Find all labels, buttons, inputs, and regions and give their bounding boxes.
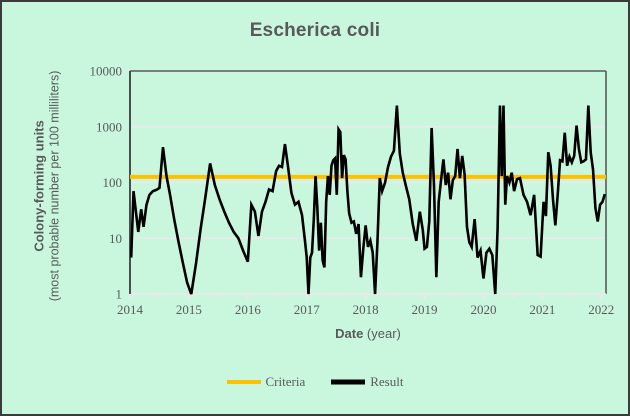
chart-container: Escherica coli 1101001000100002014201520… [0, 0, 630, 416]
y-axis-title: Colony-forming units (most probable numb… [32, 53, 64, 318]
chart-legend: Criteria Result [2, 374, 628, 390]
legend-label-result: Result [370, 374, 403, 390]
x-tick-label: 2022 [588, 302, 614, 317]
x-tick-label: 2019 [412, 302, 438, 317]
y-tick-label: 100 [103, 175, 123, 190]
x-tick-label: 2021 [529, 302, 555, 317]
legend-label-criteria: Criteria [266, 374, 306, 390]
x-tick-label: 2017 [294, 302, 321, 317]
y-tick-label: 10000 [90, 64, 123, 79]
y-axis-title-line2: (most probable number per 100 milliliter… [48, 53, 64, 318]
x-axis-title: Date (year) [130, 326, 606, 341]
x-tick-label: 2016 [235, 302, 262, 317]
x-tick-label: 2014 [117, 302, 144, 317]
legend-item-criteria[interactable]: Criteria [227, 374, 306, 390]
x-tick-label: 2020 [470, 302, 496, 317]
x-tick-label: 2015 [176, 302, 202, 317]
result-line-swatch-icon [331, 375, 365, 389]
criteria-line-swatch-icon [227, 375, 261, 389]
plot-area: 1101001000100002014201520162017201820192… [2, 2, 630, 416]
x-axis-title-bold: Date [335, 326, 363, 341]
legend-item-result[interactable]: Result [331, 374, 403, 390]
y-tick-label: 1000 [96, 119, 122, 134]
y-tick-label: 1 [116, 287, 123, 302]
series-line-result [131, 106, 605, 294]
y-tick-label: 10 [109, 231, 122, 246]
x-axis-title-plain: (year) [363, 326, 401, 341]
y-axis-title-line1: Colony-forming units [32, 53, 48, 318]
x-tick-label: 2018 [353, 302, 379, 317]
